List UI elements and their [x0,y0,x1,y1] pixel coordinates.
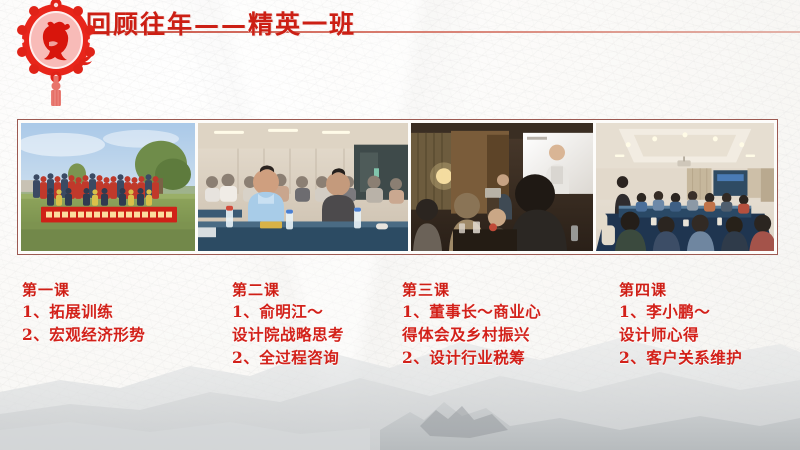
course-item: 1、俞明江～ [232,300,407,323]
course-heading: 第二课 [232,281,407,300]
photo-classroom-attendees[interactable] [198,123,408,251]
slide-header: 回顾往年——精英一班 [0,0,800,60]
course-heading: 第一课 [22,281,222,300]
course-item: 设计院战略思考 [232,323,407,346]
course-item: 1、拓展训练 [22,300,222,323]
course-column-1: 第一课 1、拓展训练 2、宏观经济形势 [22,281,222,346]
course-item: 得体会及乡村振兴 [402,323,612,346]
course-item: 2、设计行业税筹 [402,346,612,369]
course-heading: 第三课 [402,281,612,300]
course-column-4: 第四课 1、李小鹏～ 设计师心得 2、客户关系维护 [619,281,799,369]
course-item: 1、李小鹏～ [619,300,799,323]
photo-conference-room[interactable] [596,123,774,251]
course-item: 2、全过程咨询 [232,346,407,369]
photo-outdoor-group[interactable] [21,123,195,251]
course-column-2: 第二课 1、俞明江～ 设计院战略思考 2、全过程咨询 [232,281,407,369]
course-item: 1、董事长～商业心 [402,300,612,323]
page-title: 回顾往年——精英一班 [86,5,356,41]
course-list: 第一课 1、拓展训练 2、宏观经济形势 第二课 1、俞明江～ 设计院战略思考 2… [0,281,800,391]
photo-speaker-projection[interactable] [411,123,593,251]
papercut-lantern-icon [8,0,108,106]
course-heading: 第四课 [619,281,799,300]
course-item: 2、宏观经济形势 [22,323,222,346]
slide-canvas: 回顾往年——精英一班 [0,0,800,450]
photo-strip [17,119,778,255]
course-item: 设计师心得 [619,323,799,346]
course-column-3: 第三课 1、董事长～商业心 得体会及乡村振兴 2、设计行业税筹 [402,281,612,369]
course-item: 2、客户关系维护 [619,346,799,369]
